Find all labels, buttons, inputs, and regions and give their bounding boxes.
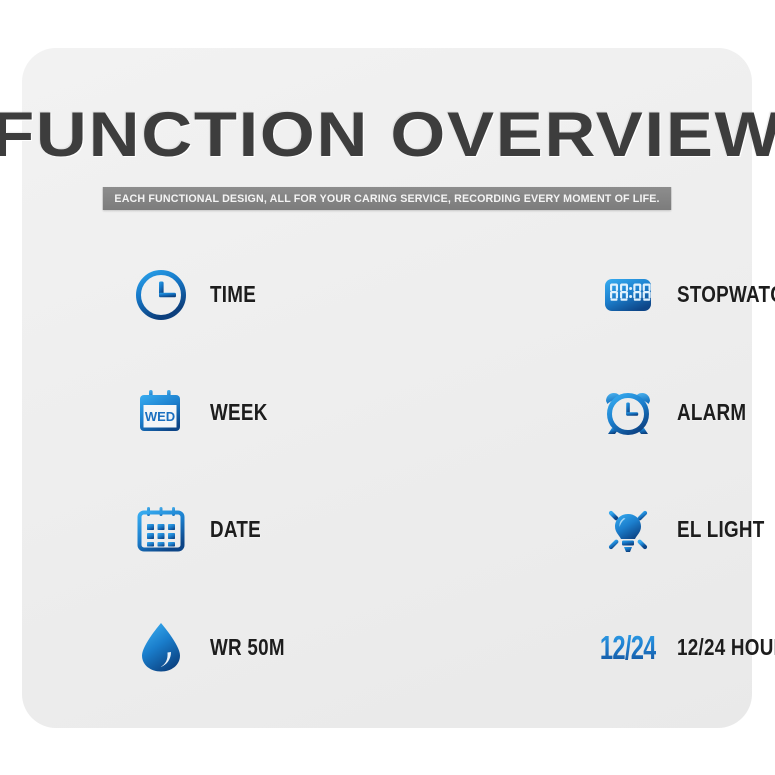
function-overview-card: FUNCTION OVERVIEW EACH FUNCTIONAL DESIGN… xyxy=(22,48,752,728)
card-header: FUNCTION OVERVIEW EACH FUNCTIONAL DESIGN… xyxy=(22,104,752,210)
feature-label: ALARM xyxy=(677,399,746,426)
week-day-text: WED xyxy=(145,409,175,424)
feature-label: EL LIGHT xyxy=(677,516,765,543)
feature-item-el-light[interactable]: EL LIGHT xyxy=(301,471,775,589)
water-drop-icon xyxy=(132,618,190,676)
feature-item-12-24-hour[interactable]: 12/24 12/24 HOUR xyxy=(301,589,775,707)
alarm-clock-icon xyxy=(599,383,657,441)
week-calendar-icon: WED xyxy=(132,383,190,441)
feature-item-date[interactable]: DATE xyxy=(22,471,301,589)
feature-item-water-resistance[interactable]: WR 50M xyxy=(22,589,301,707)
twelve-twentyfour-icon: 12/24 xyxy=(599,618,657,676)
feature-item-stopwatch[interactable]: STOPWATCH xyxy=(301,236,775,354)
feature-item-time[interactable]: TIME xyxy=(22,236,301,354)
stopwatch-icon xyxy=(599,266,657,324)
feature-item-week[interactable]: WED WEEK xyxy=(22,354,301,472)
feature-label: DATE xyxy=(210,516,261,543)
date-calendar-icon xyxy=(132,501,190,559)
subtitle-text: EACH FUNCTIONAL DESIGN, ALL FOR YOUR CAR… xyxy=(103,187,671,210)
feature-grid: TIME xyxy=(22,236,752,706)
subtitle-banner: EACH FUNCTIONAL DESIGN, ALL FOR YOUR CAR… xyxy=(22,187,752,210)
feature-label: STOPWATCH xyxy=(677,281,775,308)
lightbulb-icon xyxy=(599,501,657,559)
page-title: FUNCTION OVERVIEW xyxy=(0,104,775,167)
feature-item-alarm[interactable]: ALARM xyxy=(301,354,775,472)
feature-label: WEEK xyxy=(210,399,268,426)
feature-label: WR 50M xyxy=(210,634,285,661)
clock-icon xyxy=(132,266,190,324)
twelve-twentyfour-glyph-text: 12/24 xyxy=(600,631,656,664)
feature-label: 12/24 HOUR xyxy=(677,634,775,661)
feature-label: TIME xyxy=(210,281,256,308)
